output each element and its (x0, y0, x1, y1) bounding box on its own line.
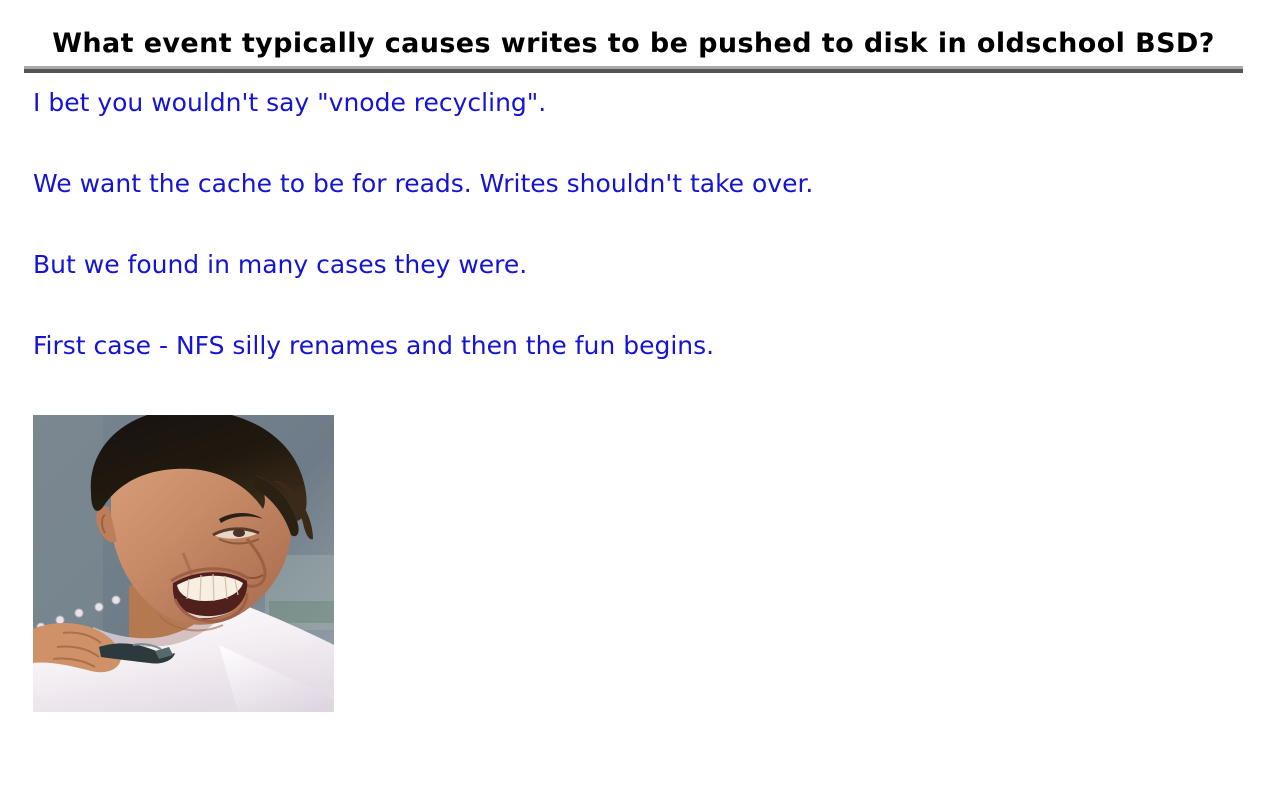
body-line-4: First case - NFS silly renames and then … (33, 329, 1233, 363)
title-divider (24, 66, 1243, 73)
grimacing-man-photo (33, 415, 334, 712)
body-line-2: We want the cache to be for reads. Write… (33, 167, 1233, 248)
body-line-3: But we found in many cases they were. (33, 248, 1233, 329)
slide: What event typically causes writes to be… (0, 0, 1280, 800)
title-divider-bottom (24, 69, 1243, 73)
body-line-1: I bet you wouldn't say "vnode recycling"… (33, 86, 1233, 167)
body-text-block: I bet you wouldn't say "vnode recycling"… (33, 86, 1233, 363)
page-title: What event typically causes writes to be… (24, 24, 1243, 64)
